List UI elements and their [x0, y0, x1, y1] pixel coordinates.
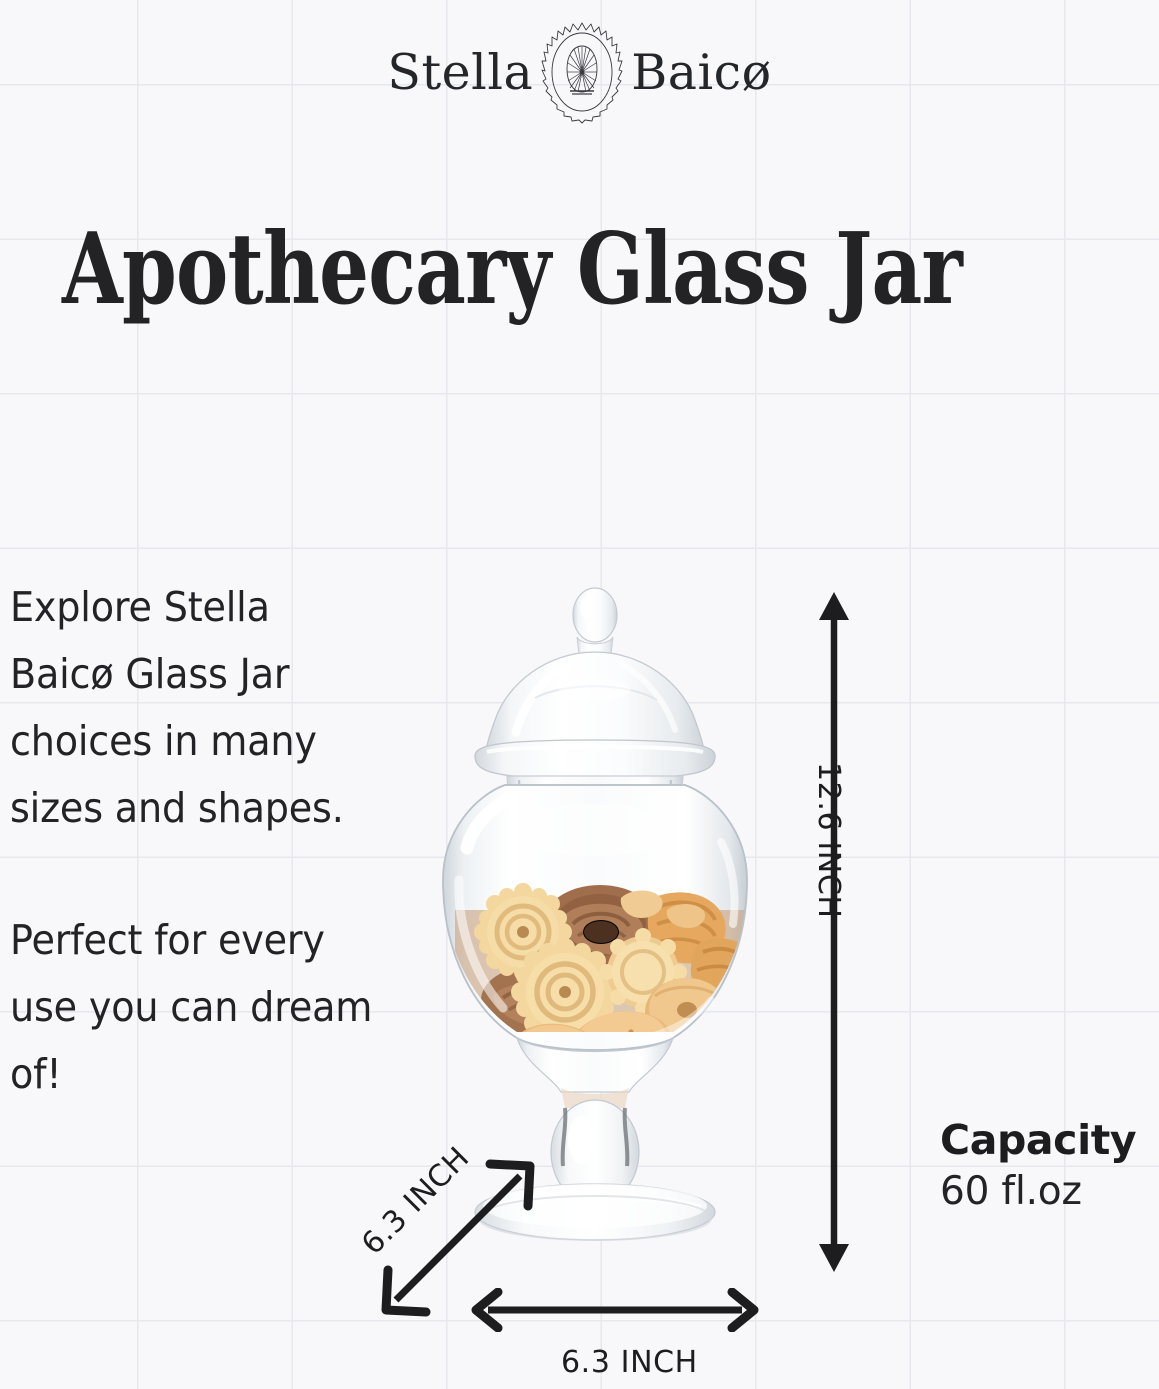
description-paragraph-2: Perfect for every use you can dream of!: [10, 907, 382, 1108]
height-dimension-label: 12.6 INCH: [811, 762, 846, 919]
capacity-block: Capacity 60 fl.oz: [940, 1118, 1159, 1220]
width-dimension-label: 6.3 INCH: [561, 1345, 698, 1380]
page-title: Apothecary Glass Jar: [62, 218, 934, 322]
infographic-canvas: Stella: [0, 0, 1159, 1389]
brand-name-right: Baicø: [631, 48, 771, 97]
description-paragraph-1: Explore Stella Baicø Glass Jar choices i…: [10, 574, 382, 842]
brand-logo: Stella: [0, 20, 1159, 124]
capacity-title: Capacity: [940, 1118, 1159, 1164]
capacity-value: 60 fl.oz: [940, 1164, 1159, 1221]
brand-name-left: Stella: [387, 48, 533, 97]
oval-sunburst-emblem-icon: [539, 20, 625, 124]
height-dimension-arrow: [812, 590, 856, 1274]
